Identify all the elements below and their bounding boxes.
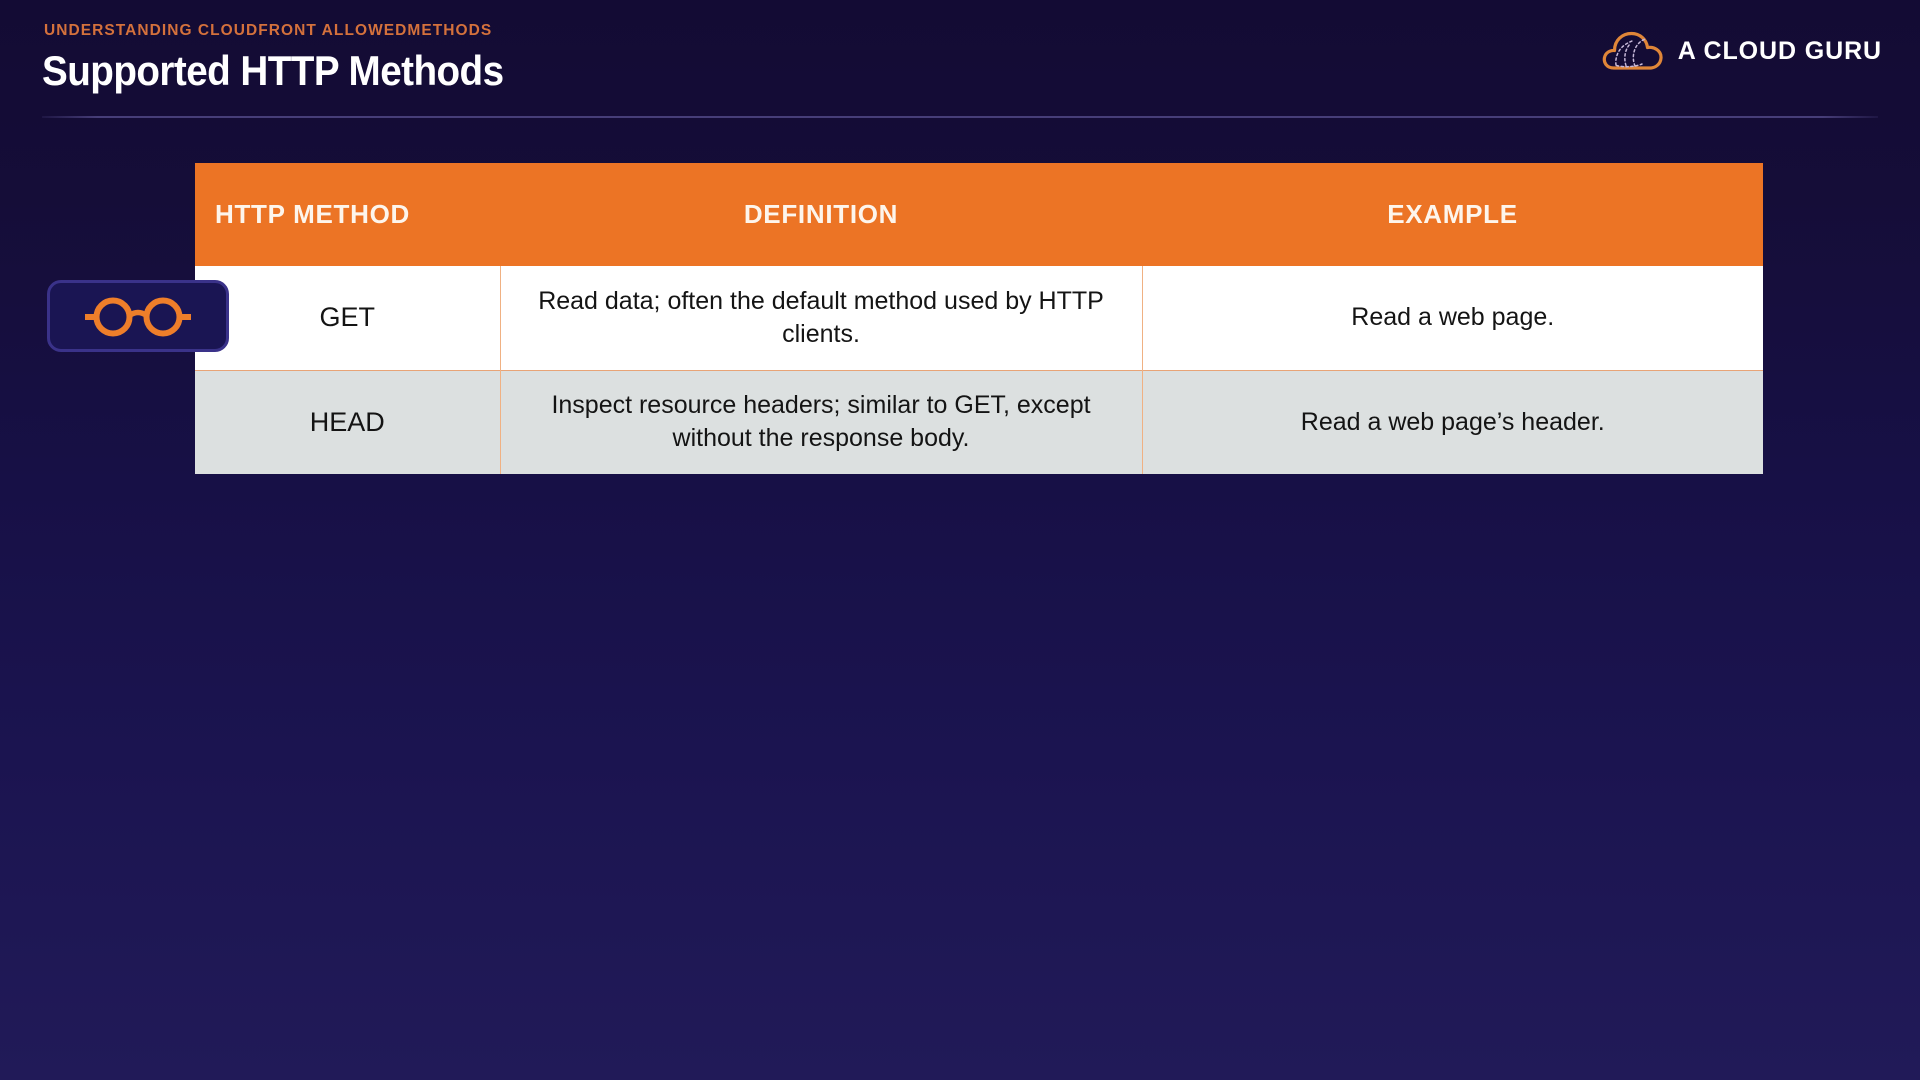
slide-eyebrow: UNDERSTANDING CLOUDFRONT ALLOWEDMETHODS — [44, 22, 492, 40]
column-header-example: EXAMPLE — [1142, 163, 1763, 266]
cell-definition: Read data; often the default method used… — [500, 266, 1142, 370]
column-header-http-method: HTTP METHOD — [195, 163, 500, 266]
http-methods-table: HTTP METHOD DEFINITION EXAMPLE GET Read … — [195, 163, 1763, 474]
cell-definition: Inspect resource headers; similar to GET… — [500, 370, 1142, 474]
cell-example: Read a web page’s header. — [1142, 370, 1763, 474]
glasses-badge — [47, 280, 229, 352]
brand-logo: A CLOUD GURU — [1602, 28, 1882, 74]
cloud-icon — [1602, 30, 1664, 72]
table-header-row: HTTP METHOD DEFINITION EXAMPLE — [195, 163, 1763, 266]
brand-name: A CLOUD GURU — [1678, 37, 1882, 66]
page-title: Supported HTTP Methods — [42, 48, 504, 94]
header-divider — [42, 116, 1878, 118]
cell-http-method: HEAD — [195, 370, 500, 474]
cell-example: Read a web page. — [1142, 266, 1763, 370]
table-row: HEAD Inspect resource headers; similar t… — [195, 370, 1763, 474]
glasses-icon — [79, 293, 197, 339]
table-row: GET Read data; often the default method … — [195, 266, 1763, 370]
cell-http-method: GET — [195, 266, 500, 370]
slide-header: UNDERSTANDING CLOUDFRONT ALLOWEDMETHODS … — [0, 0, 1920, 118]
column-header-definition: DEFINITION — [500, 163, 1142, 266]
